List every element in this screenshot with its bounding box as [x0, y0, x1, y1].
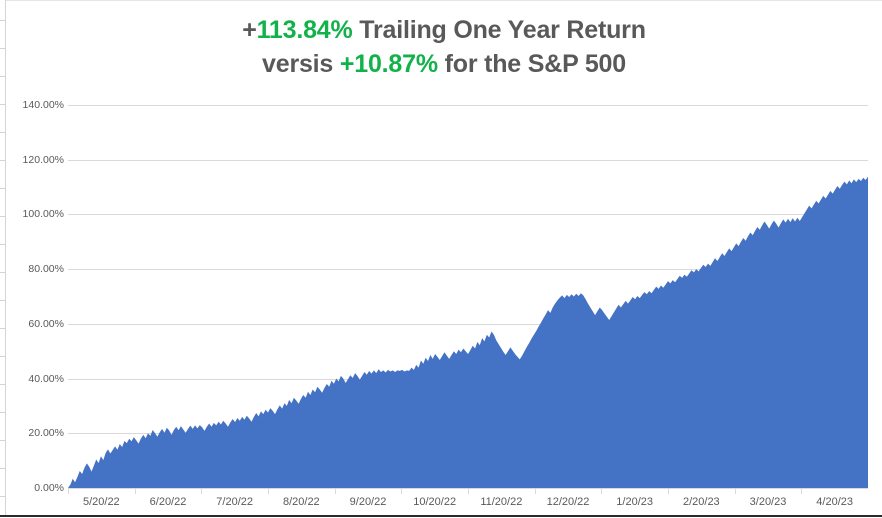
- y-axis-label-0: 0.00%: [6, 482, 64, 494]
- y-axis-label-120: 120.00%: [6, 154, 64, 166]
- y-axis-label-20: 20.00%: [6, 427, 64, 439]
- series-area-trailing-return: [68, 105, 868, 488]
- area-series-path: [68, 177, 868, 488]
- chart-title-line-1: +113.84% Trailing One Year Return: [6, 13, 882, 47]
- chart-title-line-1-run-1: 113.84%: [257, 16, 353, 44]
- chart-title-line-2: versis +10.87% for the S&P 500: [6, 47, 882, 81]
- x-axis-labels: 5/20/226/20/227/20/228/20/229/20/2210/20…: [6, 494, 882, 514]
- chart-title: +113.84% Trailing One Year Return versis…: [6, 13, 882, 81]
- x-axis-label-6: 11/20/22: [480, 494, 522, 510]
- x-axis-label-3: 8/20/22: [283, 494, 320, 510]
- y-axis-label-100: 100.00%: [6, 208, 64, 220]
- x-axis-label-2: 7/20/22: [216, 494, 253, 510]
- x-axis-label-9: 2/20/23: [683, 494, 720, 510]
- chart-title-line-1-run-0: +: [242, 16, 256, 44]
- y-axis-labels: 0.00%20.00%40.00%60.00%80.00%100.00%120.…: [6, 1, 64, 515]
- y-axis-label-40: 40.00%: [6, 373, 64, 385]
- y-axis-label-80: 80.00%: [6, 263, 64, 275]
- chart-title-line-2-run-1: +10.87%: [340, 50, 438, 78]
- chart-title-line-2-run-0: versis: [262, 50, 340, 78]
- y-axis-label-60: 60.00%: [6, 318, 64, 330]
- x-axis-label-5: 10/20/22: [413, 494, 456, 510]
- x-axis-label-0: 5/20/22: [83, 494, 120, 510]
- x-axis-label-10: 3/20/23: [750, 494, 787, 510]
- chart-title-line-2-run-2: for the S&P 500: [438, 50, 626, 78]
- x-axis-label-11: 4/20/23: [816, 494, 853, 510]
- worksheet-bottom-border: [0, 515, 882, 517]
- chart-screenshot: +113.84% Trailing One Year Return versis…: [0, 0, 882, 518]
- plot-area[interactable]: [68, 105, 868, 488]
- x-axis-label-1: 6/20/22: [150, 494, 187, 510]
- area-chart[interactable]: +113.84% Trailing One Year Return versis…: [6, 1, 882, 515]
- x-axis-label-7: 12/20/22: [547, 494, 590, 510]
- chart-title-line-1-run-2: Trailing One Year Return: [353, 16, 646, 44]
- x-axis-label-4: 9/20/22: [350, 494, 387, 510]
- x-axis-label-8: 1/20/23: [616, 494, 653, 510]
- y-axis-label-140: 140.00%: [6, 99, 64, 111]
